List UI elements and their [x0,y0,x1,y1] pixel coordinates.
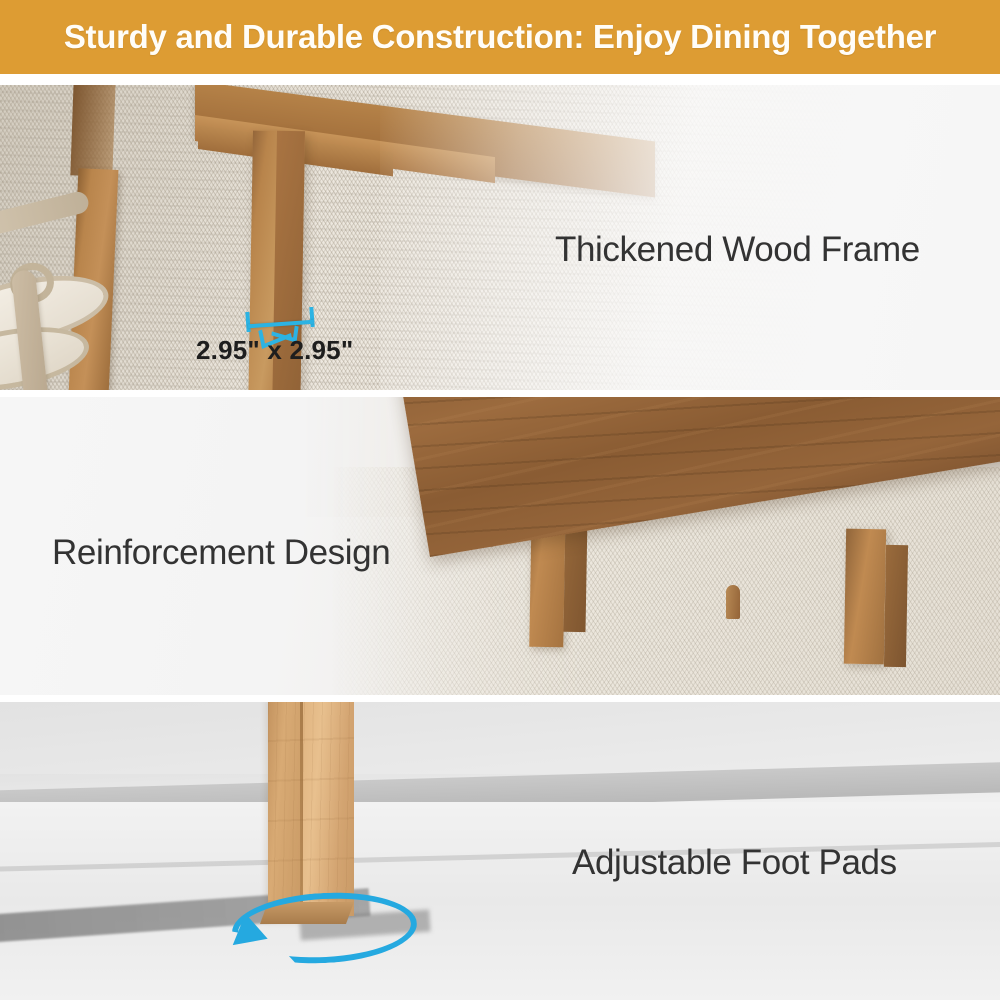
banner-divider [0,74,1000,85]
floor-surface [0,802,1000,1000]
header-banner: Sturdy and Durable Construction: Enjoy D… [0,0,1000,74]
table-leg-back-upper [70,85,115,177]
product-feature-infographic: Sturdy and Durable Construction: Enjoy D… [0,0,1000,1000]
caption-thickened-wood-frame: Thickened Wood Frame [555,230,920,270]
dimension-label: 2.95" x 2.95" [196,335,353,366]
caption-adjustable-foot-pads: Adjustable Foot Pads [572,843,897,883]
table-leg-near-inner-face [884,545,908,667]
panel-separator-2 [0,695,1000,702]
panel-separator-1 [0,390,1000,397]
table-leg-near [844,529,886,665]
banner-title: Sturdy and Durable Construction: Enjoy D… [64,18,936,56]
table-leg-grain [268,702,354,922]
caption-reinforcement-design: Reinforcement Design [52,533,390,573]
wall-surface [0,702,1000,774]
table-dowel-peg [726,585,740,619]
